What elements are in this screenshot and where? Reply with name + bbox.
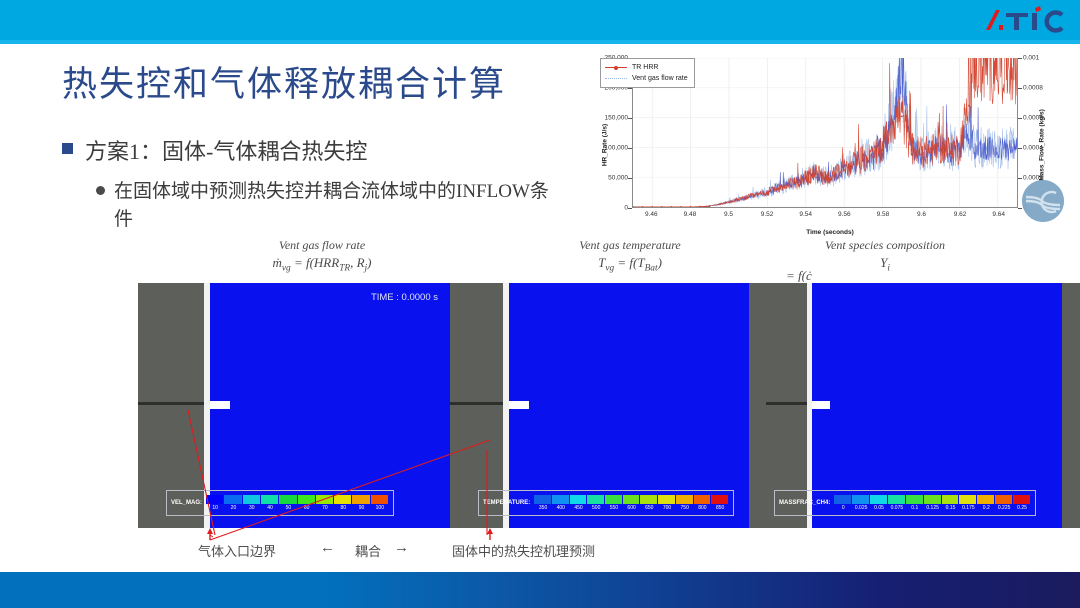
footer-bar (0, 572, 1080, 608)
colorbar-swatch (298, 495, 316, 504)
colorbar-swatch (605, 495, 623, 504)
colorbar-swatch (852, 495, 870, 504)
chart-xtick: 9.54 (799, 211, 812, 218)
colorbar-tick: 50 (279, 505, 297, 511)
colorbar-tick: 0.15 (942, 505, 960, 511)
simulation-strip: TIME : 0.0000 s VEL_MAG:1020304050607080… (138, 283, 1080, 528)
caption-vent-flow-eq: ṁvg = f(HRRTR, Rj) (232, 255, 412, 274)
colorbar-swatch (834, 495, 852, 504)
chart-xtick: 9.48 (684, 211, 697, 218)
colorbar-tick: 0.225 (995, 505, 1013, 511)
massfrac-colorbar: MASSFRAC_CH4:00.0250.050.0750.10.1250.15… (774, 490, 1036, 516)
colorbar-tick: 0.025 (852, 505, 870, 511)
colorbar-swatch (334, 495, 352, 504)
colorbar-swatch (977, 495, 995, 504)
caption-species-title: Vent species composition (790, 238, 980, 253)
chart-ytick-right: 0.0006 (1023, 115, 1043, 122)
colorbar-swatch (352, 495, 370, 504)
colorbar-tick: 30 (243, 505, 261, 511)
colorbar-label: MASSFRAC_CH4: (779, 500, 830, 506)
colorbar-swatch (371, 495, 389, 504)
colorbar-tick: 350 (534, 505, 552, 511)
temperature-colorbar: TEMPERATURE:3504004505005506006507007508… (478, 490, 734, 516)
colorbar-swatch (942, 495, 960, 504)
colorbar-tick: 0.25 (1013, 505, 1031, 511)
bullet-level2: 在固体域中预测热失控并耦合流体域中的INFLOW条件 (96, 178, 556, 233)
colorbar-swatch (924, 495, 942, 504)
time-label: TIME : 0.0000 s (371, 292, 438, 303)
chart-ytick-right: 0.0004 (1023, 145, 1043, 152)
chart-ytick-mark (1018, 58, 1022, 59)
colorbar-scale: 350400450500550600650700750800850 (534, 495, 729, 511)
bullet-level1-label: 方案1：固体-气体耦合热失控 (85, 134, 367, 166)
colorbar-swatch (206, 495, 224, 504)
chart-xtick: 9.64 (992, 211, 1005, 218)
arrow-right-icon: → (394, 540, 409, 557)
colorbar-tick: 20 (224, 505, 242, 511)
colorbar-swatch (587, 495, 605, 504)
caption-solid-prediction: 固体中的热失控机理预测 (452, 541, 595, 560)
arrow-left-icon: ← (320, 540, 335, 557)
colorbar-swatch (658, 495, 676, 504)
slide-root: 热失控和气体释放耦合计算 方案1：固体-气体耦合热失控 在固体域中预测热失控并耦… (0, 0, 1080, 608)
dot-bullet-icon (96, 186, 105, 195)
caption-vent-flow: Vent gas flow rate ṁvg = f(HRRTR, Rj) (232, 238, 412, 274)
watermark-logo (1022, 180, 1064, 222)
colorbar-tick: 80 (334, 505, 352, 511)
colorbar-tick: 0.075 (888, 505, 906, 511)
atic-logo (980, 6, 1066, 36)
caption-vent-flow-title: Vent gas flow rate (232, 238, 412, 253)
caption-inlet-boundary: 气体入口边界 (198, 541, 276, 560)
colorbar-swatch (711, 495, 729, 504)
chart-xtick: 9.56 (838, 211, 851, 218)
chart-xtick: 9.5 (724, 211, 733, 218)
chart-xtick: 9.6 (917, 211, 926, 218)
chart-legend: TR HRR Vent gas flow rate (600, 58, 695, 88)
chart-ytick-right: 0.001 (1023, 55, 1039, 62)
colorbar-swatch (959, 495, 977, 504)
colorbar-swatch (640, 495, 658, 504)
colorbar-tick: 10 (206, 505, 224, 511)
chart-ytick-mark (628, 88, 632, 89)
legend-swatch-red (605, 67, 627, 68)
bullet-level1: 方案1：固体-气体耦合热失控 (62, 134, 367, 166)
caption-vent-temp: Vent gas temperature Tvg = f(TBat) (540, 238, 720, 274)
chart-ytick-mark (628, 118, 632, 119)
chart-xlabel: Time (seconds) (586, 229, 1074, 236)
colorbar-tick: 600 (623, 505, 641, 511)
caption-coupling: 耦合 (355, 541, 381, 560)
colorbar-swatch (243, 495, 261, 504)
solid-divider (766, 402, 810, 405)
colorbar-swatch (316, 495, 334, 504)
chart-ytick-left: 100,000 (605, 145, 629, 152)
colorbar-swatch (552, 495, 570, 504)
page-title: 热失控和气体释放耦合计算 (62, 56, 506, 107)
colorbar-tick: 100 (371, 505, 389, 511)
velocity-panel: TIME : 0.0000 s VEL_MAG:1020304050607080… (138, 283, 450, 528)
inlet-opening (509, 401, 529, 409)
colorbar-scale: 102030405060708090100 (206, 495, 389, 511)
colorbar-swatch (870, 495, 888, 504)
colorbar-tick: 650 (640, 505, 658, 511)
colorbar-swatch (261, 495, 279, 504)
colorbar-tick: 70 (316, 505, 334, 511)
legend-entry-vent-flow: Vent gas flow rate (605, 73, 688, 84)
colorbar-tick: 60 (298, 505, 316, 511)
massfrac-panel: MASSFRAC_CH4:00.0250.050.0750.10.1250.15… (766, 283, 1080, 528)
chart-ytick-right: 0.0008 (1023, 85, 1043, 92)
chart-ytick-mark (628, 148, 632, 149)
colorbar-tick: 700 (658, 505, 676, 511)
colorbar-tick: 450 (570, 505, 588, 511)
colorbar-label: TEMPERATURE: (483, 500, 530, 506)
chart-ytick-mark (628, 208, 632, 209)
colorbar-tick: 0.175 (959, 505, 977, 511)
colorbar-tick: 400 (552, 505, 570, 511)
colorbar-tick: 0.2 (977, 505, 995, 511)
chart-ytick-left: 50,000 (608, 175, 628, 182)
chart-ytick-mark (1018, 148, 1022, 149)
solid-divider (450, 402, 506, 405)
colorbar-tick: 0.125 (924, 505, 942, 511)
header-bar (0, 0, 1080, 40)
colorbar-swatch (676, 495, 694, 504)
velocity-colorbar: VEL_MAG:102030405060708090100 (166, 490, 394, 516)
chart-xtick: 9.52 (761, 211, 774, 218)
chart-ytick-mark (1018, 178, 1022, 179)
colorbar-swatch (224, 495, 242, 504)
bullet-level2-label: 在固体域中预测热失控并耦合流体域中的INFLOW条件 (114, 178, 556, 233)
colorbar-scale: 00.0250.050.0750.10.1250.150.1750.20.225… (834, 495, 1031, 511)
legend-label-tr-hrr: TR HRR (632, 64, 658, 71)
colorbar-tick: 750 (676, 505, 694, 511)
colorbar-swatch (888, 495, 906, 504)
colorbar-swatch (534, 495, 552, 504)
colorbar-swatch (995, 495, 1013, 504)
caption-vent-temp-title: Vent gas temperature (540, 238, 720, 253)
colorbar-tick: 850 (711, 505, 729, 511)
colorbar-tick: 90 (352, 505, 370, 511)
legend-entry-tr-hrr: TR HRR (605, 62, 688, 73)
inlet-opening (210, 401, 230, 409)
colorbar-swatch (1013, 495, 1031, 504)
solid-divider (138, 402, 204, 405)
chart-xtick: 9.62 (954, 211, 967, 218)
header-underline (0, 40, 1080, 44)
hrr-chart: HR_Rate (J/s) Mass_Flow_Rate (kg/s) Time… (586, 52, 1074, 238)
chart-ytick-left: 150,000 (605, 115, 629, 122)
colorbar-tick: 550 (605, 505, 623, 511)
colorbar-tick: 40 (261, 505, 279, 511)
chart-xtick: 9.46 (645, 211, 658, 218)
chart-ytick-mark (628, 178, 632, 179)
colorbar-label: VEL_MAG: (171, 500, 202, 506)
colorbar-tick: 800 (694, 505, 712, 511)
colorbar-tick: 0 (834, 505, 852, 511)
temperature-panel: TEMPERATURE:3504004505005506006507007508… (450, 283, 766, 528)
square-bullet-icon (62, 143, 73, 154)
colorbar-tick: 500 (587, 505, 605, 511)
colorbar-tick: 0.05 (870, 505, 888, 511)
inlet-opening (812, 401, 830, 409)
chart-ytick-mark (1018, 88, 1022, 89)
colorbar-swatch (906, 495, 924, 504)
chart-xtick: 9.58 (877, 211, 890, 218)
caption-vent-temp-eq: Tvg = f(TBat) (540, 255, 720, 274)
colorbar-swatch (623, 495, 641, 504)
legend-swatch-blue (605, 78, 627, 79)
colorbar-swatch (570, 495, 588, 504)
legend-label-vent-flow: Vent gas flow rate (632, 75, 688, 82)
colorbar-tick: 0.1 (906, 505, 924, 511)
colorbar-swatch (279, 495, 297, 504)
colorbar-swatch (694, 495, 712, 504)
chart-ytick-mark (1018, 118, 1022, 119)
caption-species-eq-clipped: = f(ċ (786, 268, 986, 282)
